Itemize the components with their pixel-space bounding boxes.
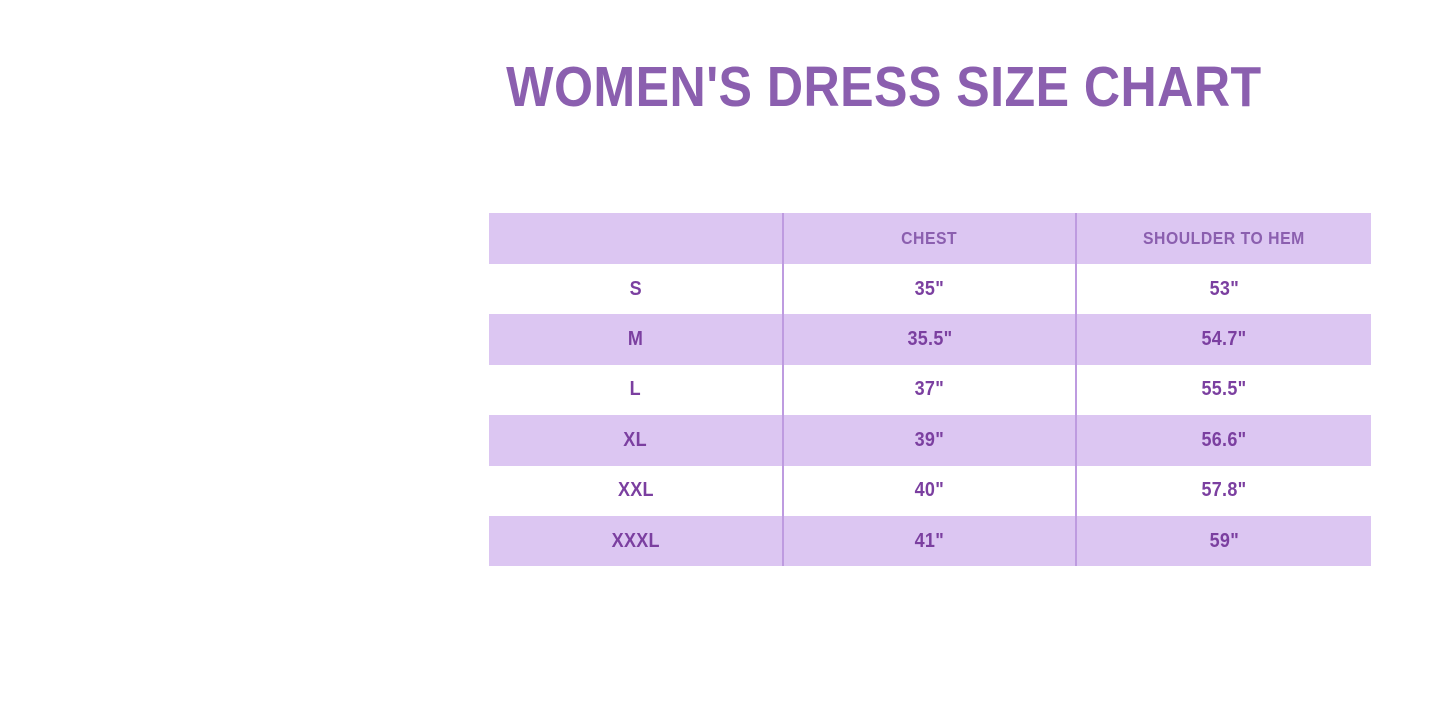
column-header-size xyxy=(489,213,783,264)
size-value: XXXL xyxy=(611,530,659,553)
size-chart-container: CHEST SHOULDER TO HEM S 35" 53" xyxy=(489,213,1371,566)
cell-shoulder-to-hem: 56.6" xyxy=(1076,415,1371,465)
column-header-chest: CHEST xyxy=(783,213,1076,264)
cell-size: XXXL xyxy=(489,516,783,566)
table-row: XL 39" 56.6" xyxy=(489,415,1371,465)
shoulder-to-hem-value: 54.7" xyxy=(1202,328,1247,351)
chest-value: 35" xyxy=(915,278,944,301)
shoulder-to-hem-value: 56.6" xyxy=(1202,429,1247,452)
cell-chest: 41" xyxy=(783,516,1076,566)
shoulder-to-hem-value: 55.5" xyxy=(1202,378,1247,401)
cell-shoulder-to-hem: 59" xyxy=(1076,516,1371,566)
size-value: XXL xyxy=(618,479,654,502)
table-row: M 35.5" 54.7" xyxy=(489,314,1371,364)
size-chart-table: CHEST SHOULDER TO HEM S 35" 53" xyxy=(489,213,1371,566)
table-body: S 35" 53" M 35.5" 54.7" xyxy=(489,264,1371,566)
shoulder-to-hem-value: 57.8" xyxy=(1202,479,1247,502)
table-header-row: CHEST SHOULDER TO HEM xyxy=(489,213,1371,264)
cell-shoulder-to-hem: 53" xyxy=(1076,264,1371,314)
table-header: CHEST SHOULDER TO HEM xyxy=(489,213,1371,264)
size-value: L xyxy=(630,378,641,401)
cell-chest: 40" xyxy=(783,466,1076,516)
cell-chest: 35.5" xyxy=(783,314,1076,364)
column-header-chest-label: CHEST xyxy=(901,228,957,249)
column-header-shoulder-to-hem: SHOULDER TO HEM xyxy=(1076,213,1371,264)
page-title: WOMEN'S DRESS SIZE CHART xyxy=(106,58,1445,118)
chest-value: 40" xyxy=(915,479,944,502)
cell-chest: 35" xyxy=(783,264,1076,314)
chest-value: 35.5" xyxy=(907,328,952,351)
size-value: S xyxy=(629,278,641,301)
chest-value: 39" xyxy=(915,429,944,452)
cell-shoulder-to-hem: 54.7" xyxy=(1076,314,1371,364)
cell-chest: 37" xyxy=(783,365,1076,415)
table-row: L 37" 55.5" xyxy=(489,365,1371,415)
size-value: M xyxy=(628,328,643,351)
cell-shoulder-to-hem: 55.5" xyxy=(1076,365,1371,415)
cell-chest: 39" xyxy=(783,415,1076,465)
size-value: XL xyxy=(624,429,648,452)
table-row: S 35" 53" xyxy=(489,264,1371,314)
cell-size: XXL xyxy=(489,466,783,516)
chest-value: 41" xyxy=(915,530,944,553)
column-header-shoulder-to-hem-label: SHOULDER TO HEM xyxy=(1143,228,1305,249)
shoulder-to-hem-value: 59" xyxy=(1209,530,1238,553)
table-row: XXXL 41" 59" xyxy=(489,516,1371,566)
cell-size: M xyxy=(489,314,783,364)
chest-value: 37" xyxy=(915,378,944,401)
cell-size: XL xyxy=(489,415,783,465)
table-row: XXL 40" 57.8" xyxy=(489,466,1371,516)
cell-shoulder-to-hem: 57.8" xyxy=(1076,466,1371,516)
cell-size: S xyxy=(489,264,783,314)
cell-size: L xyxy=(489,365,783,415)
shoulder-to-hem-value: 53" xyxy=(1209,278,1238,301)
